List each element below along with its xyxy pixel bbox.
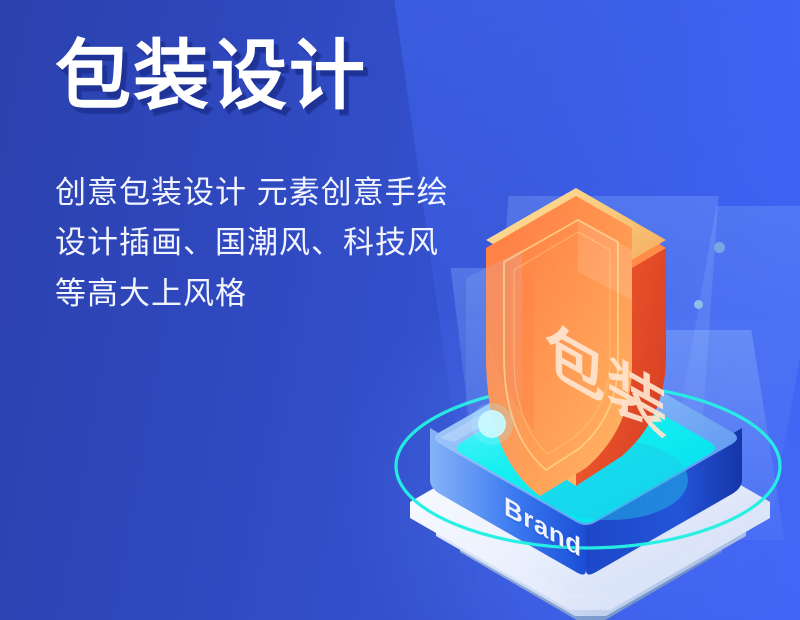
subtitle-line: 设计插画、国潮风、科技风 <box>55 218 575 268</box>
subtitle-line: 等高大上风格 <box>55 269 575 319</box>
banner-subtitle: 创意包装设计 元素创意手绘 设计插画、国潮风、科技风 等高大上风格 <box>55 168 575 319</box>
page-title: 包装设计 <box>55 36 575 118</box>
banner-text-block: 包装设计 创意包装设计 元素创意手绘 设计插画、国潮风、科技风 等高大上风格 <box>55 36 575 319</box>
subtitle-line: 创意包装设计 元素创意手绘 <box>55 168 575 218</box>
packaging-design-banner: 包装设计 创意包装设计 元素创意手绘 设计插画、国潮风、科技风 等高大上风格 <box>0 0 800 620</box>
glow-sphere-icon <box>471 403 513 445</box>
